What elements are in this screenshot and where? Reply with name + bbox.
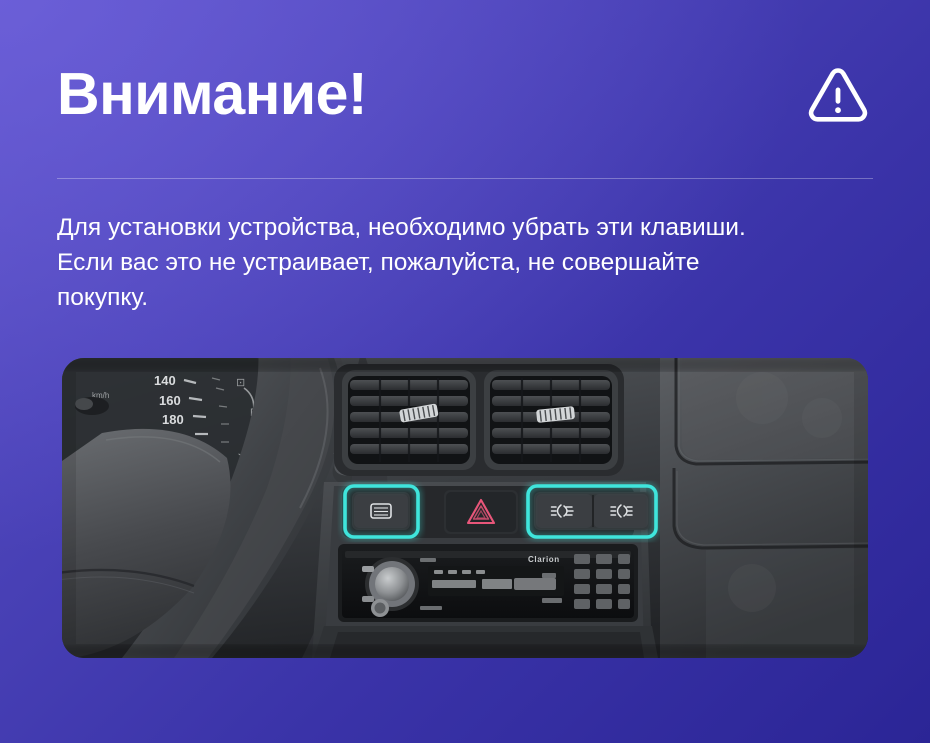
body-line-2: Если вас это не устраивает, пожалуйста, … bbox=[57, 245, 857, 280]
body-line-1: Для установки устройства, необходимо убр… bbox=[57, 210, 857, 245]
dashboard-photo-image: 140 160 180 200 km/h ⊡ E ⌁ C bbox=[62, 358, 868, 658]
warning-banner: Внимание! Для установки устройства, необ… bbox=[0, 0, 930, 743]
warning-triangle-icon bbox=[807, 64, 869, 124]
header-divider bbox=[57, 178, 873, 179]
body-line-3: покупку. bbox=[57, 280, 857, 315]
body-copy: Для установки устройства, необходимо убр… bbox=[57, 210, 857, 315]
page-title: Внимание! bbox=[57, 65, 367, 124]
banner-header: Внимание! bbox=[57, 46, 873, 142]
dashboard-photo: 140 160 180 200 km/h ⊡ E ⌁ C bbox=[62, 358, 868, 658]
